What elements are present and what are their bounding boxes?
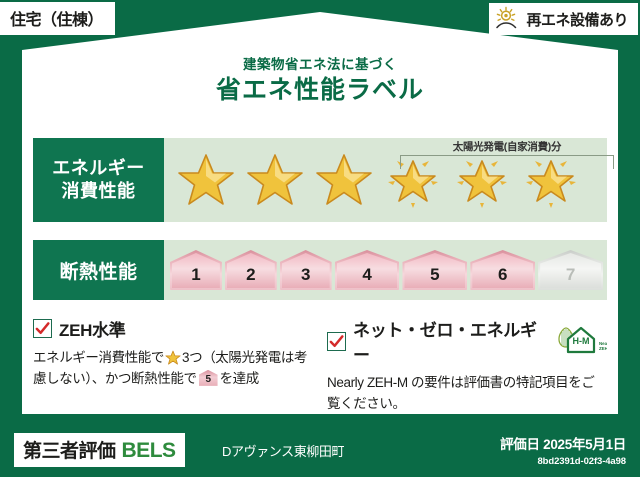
title-subtitle: 建築物省エネ法に基づく <box>0 58 640 73</box>
checkbox-checked-icon <box>327 332 346 351</box>
note-zeh-text-1: エネルギー消費性能で <box>33 350 164 365</box>
bels-certification-chip: 第三者評価 BELS <box>14 433 185 467</box>
insulation-performance-tag: 断熱性能 <box>33 240 164 300</box>
bels-jp-label: 第三者評価 <box>23 436 116 463</box>
zeh-m-logo-icon: H-M Nearly ZEH-M <box>551 326 607 356</box>
energy-tag-line2: 消費性能 <box>62 180 136 203</box>
grade-number: 4 <box>362 266 371 290</box>
note-nze-header: ネット・ゼロ・エネルギー H-M Nearly ZEH-M <box>327 316 607 366</box>
label-title-block: 建築物省エネ法に基づく 省エネ性能ラベル <box>0 58 640 104</box>
bels-en-label: BELS <box>122 439 176 463</box>
note-zeh-body: エネルギー消費性能で3つ（太陽光発電は考慮しない）、かつ断熱性能で5を達成 <box>33 348 313 390</box>
grade-badge: 5 <box>402 250 467 290</box>
svg-text:ZEH-M: ZEH-M <box>599 346 607 351</box>
star-filled <box>309 138 378 222</box>
building-name: Dアヴァンス東柳田町 <box>222 441 344 460</box>
evaluation-date: 評価日 2025年5月1日 <box>500 433 626 453</box>
solar-bracket-label: 太陽光発電(自家消費)分 <box>400 139 614 154</box>
renewable-equipment-chip: 再エネ設備あり <box>489 3 638 35</box>
energy-performance-row: エネルギー 消費性能 太陽光発電(自家消費)分 <box>33 138 607 222</box>
energy-performance-label: 住宅（住棟） 再エネ設備あり 建築物省エネ法に基づく <box>0 0 640 477</box>
insulation-performance-row: 断熱性能 1 2 3 4 <box>33 240 607 300</box>
evaluation-info: 評価日 2025年5月1日 8bd2391d-02f3-4a98 <box>500 433 626 467</box>
notes-section: ZEH水準 エネルギー消費性能で3つ（太陽光発電は考慮しない）、かつ断熱性能で5… <box>33 316 607 408</box>
note-zeh-standard: ZEH水準 エネルギー消費性能で3つ（太陽光発電は考慮しない）、かつ断熱性能で5… <box>33 316 313 408</box>
insulation-tag-label: 断熱性能 <box>59 257 137 284</box>
grade-number: 3 <box>301 266 310 290</box>
grade-badge: 4 <box>335 250 400 290</box>
grade-number: 5 <box>430 266 439 290</box>
energy-stars-area: 太陽光発電(自家消費)分 <box>164 138 607 222</box>
grade-badge: 1 <box>170 250 222 290</box>
inline-grade-badge-icon: 5 <box>199 370 218 386</box>
svg-text:H-M: H-M <box>573 336 590 346</box>
note-nze-body: Nearly ZEH-M の要件は評価書の特記項目をご覧ください。 <box>327 373 607 415</box>
energy-performance-tag: エネルギー 消費性能 <box>33 138 164 222</box>
note-zeh-text-4: を達成 <box>220 371 259 386</box>
insulation-grades-area: 1 2 3 4 5 <box>164 240 607 300</box>
star-filled <box>240 138 309 222</box>
checkbox-checked-icon <box>33 319 52 338</box>
grade-badge-inactive: 7 <box>538 250 603 290</box>
page-title: 省エネ性能ラベル <box>0 77 640 105</box>
evaluation-id: 8bd2391d-02f3-4a98 <box>500 456 626 467</box>
note-zeh-text-2: 3つ（太陽光発電 <box>182 350 281 365</box>
energy-tag-line1: エネルギー <box>52 157 145 180</box>
note-zeh-title: ZEH水準 <box>59 316 126 341</box>
inline-grade-number: 5 <box>199 370 218 386</box>
insulation-grade-group: 1 2 3 4 5 <box>170 240 603 300</box>
star-filled <box>171 138 240 222</box>
note-nze-title: ネット・ゼロ・エネルギー <box>353 316 544 366</box>
solar-sun-icon <box>495 6 521 32</box>
grade-number: 7 <box>566 266 575 290</box>
building-type-text: 住宅（住棟） <box>10 12 103 29</box>
renewable-equipment-text: 再エネ設備あり <box>526 9 628 30</box>
note-net-zero-energy: ネット・ゼロ・エネルギー H-M Nearly ZEH-M <box>327 316 607 408</box>
grade-number: 2 <box>246 266 255 290</box>
grade-badge: 2 <box>225 250 277 290</box>
label-footer: 第三者評価 BELS Dアヴァンス東柳田町 評価日 2025年5月1日 8bd2… <box>0 421 640 477</box>
grade-number: 1 <box>191 266 200 290</box>
note-zeh-header: ZEH水準 <box>33 316 313 341</box>
building-type-chip: 住宅（住棟） <box>0 2 115 35</box>
grade-badge: 6 <box>470 250 535 290</box>
inline-star-icon <box>165 350 181 366</box>
grade-number: 6 <box>498 266 507 290</box>
solar-portion-bracket <box>400 155 614 169</box>
grade-badge: 3 <box>280 250 332 290</box>
